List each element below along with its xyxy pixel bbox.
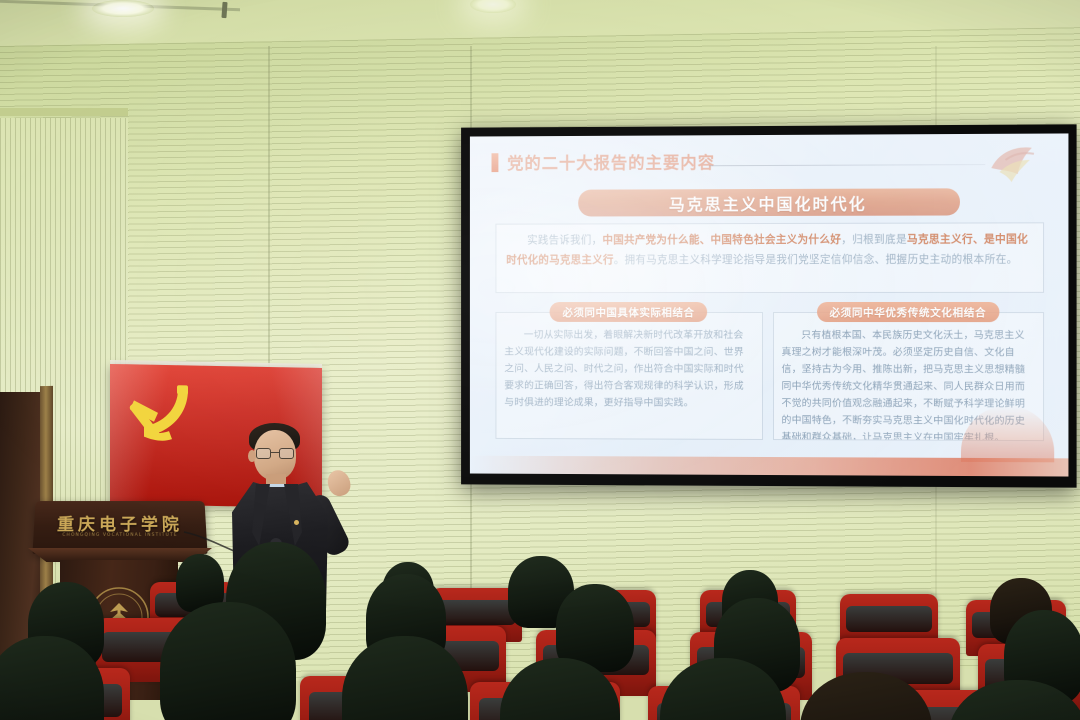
- lecture-hall-photo: 重庆电子学院 CHONGQING VOCATIONAL INSTITUTE: [0, 0, 1080, 720]
- lapel-pin-icon: [294, 520, 299, 525]
- header-rule: [709, 164, 985, 166]
- slide-header: 党的二十大报告的主要内容: [492, 148, 1049, 182]
- audience-area: [0, 540, 1080, 720]
- hammer-and-sickle-icon: [128, 380, 202, 453]
- slide-footer-band: [470, 456, 1069, 477]
- intro-mid: ，归根到底是: [841, 234, 907, 246]
- slide-title: 党的二十大报告的主要内容: [507, 149, 715, 174]
- slide-columns: 必须同中国具体实际相结合 一切从实际出发，着眼解决新时代改革开放和社会主义现代化…: [495, 302, 1044, 441]
- ceiling-light-left: [92, 0, 154, 17]
- intro-highlight-1: 中国共产党为什么能、中国特色社会主义为什么好: [602, 234, 841, 246]
- presentation-screen[interactable]: 党的二十大报告的主要内容 马克思主义中国化时代化 实践告诉我们，中国共产党为什么…: [461, 124, 1077, 487]
- glasses-icon: [256, 448, 295, 459]
- intro-lead: 实践告诉我们，: [527, 234, 602, 246]
- congress-ribbon-logo-icon: [985, 142, 1040, 187]
- slide-intro-text: 实践告诉我们，中国共产党为什么能、中国特色社会主义为什么好，归根到底是马克思主义…: [506, 230, 1033, 270]
- speaker-raised-hand: [325, 468, 353, 499]
- header-accent-bar: [492, 153, 499, 172]
- slide-intro-box: 实践告诉我们，中国共产党为什么能、中国特色社会主义为什么好，归根到底是马克思主义…: [495, 222, 1044, 293]
- banner-text: 马克思主义中国化时代化: [669, 190, 867, 215]
- slide: 党的二十大报告的主要内容 马克思主义中国化时代化 实践告诉我们，中国共产党为什么…: [470, 133, 1069, 476]
- speaker-ear: [248, 450, 256, 462]
- column-left-tag: 必须同中国具体实际相结合: [550, 302, 708, 322]
- podium-institution-name: 重庆电子学院: [34, 511, 207, 535]
- audience-head: [160, 602, 296, 720]
- wall-panel-trim: [0, 108, 128, 116]
- slide-column-left: 必须同中国具体实际相结合 一切从实际出发，着眼解决新时代改革开放和社会主义现代化…: [495, 302, 762, 440]
- slide-banner: 马克思主义中国化时代化: [578, 188, 960, 216]
- podium-institution-name-en: CHONGQING VOCATIONAL INSTITUTE: [33, 533, 206, 538]
- intro-tail: 。拥有马克思主义科学理论指导是我们党坚定信仰信念、把握历史主动的根本所在。: [614, 253, 1018, 266]
- column-right-tag: 必须同中华优秀传统文化相结合: [817, 302, 1000, 322]
- screen-display: 党的二十大报告的主要内容 马克思主义中国化时代化 实践告诉我们，中国共产党为什么…: [470, 133, 1069, 476]
- column-left-body: 一切从实际出发，着眼解决新时代改革开放和社会主义现代化建设的实际问题，不断回答中…: [495, 312, 762, 440]
